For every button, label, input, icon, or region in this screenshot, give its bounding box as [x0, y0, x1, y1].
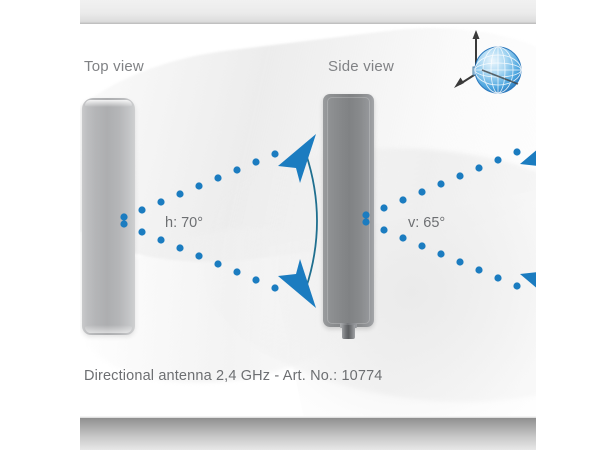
top-beam-dots-upper — [120, 150, 278, 220]
antenna-connector — [342, 325, 355, 339]
top-beam-arrow-upper — [278, 134, 316, 183]
top-edge-band — [80, 0, 536, 24]
side-view-title: Side view — [328, 58, 394, 75]
side-beam-arrow-upper — [520, 132, 536, 181]
product-caption: Directional antenna 2,4 GHz - Art. No.: … — [84, 368, 383, 384]
illustration-canvas: Top view Side view — [80, 0, 536, 450]
side-beam-dots-upper — [362, 148, 520, 218]
side-beam-arrow-lower — [520, 257, 536, 306]
bottom-shadow-band — [80, 418, 536, 450]
top-beam-dots-lower — [120, 220, 278, 291]
side-view-beam-diagram — [362, 106, 536, 321]
top-beam-arc — [306, 154, 317, 288]
top-view-beamwidth-label: h: 70° — [165, 215, 203, 231]
top-beam-arrow-lower — [278, 259, 316, 308]
globe-axes-icon — [452, 26, 526, 98]
top-view-beam-diagram — [120, 110, 340, 325]
side-view-beamwidth-label: v: 65° — [408, 215, 445, 231]
product-illustration: Top view Side view — [0, 0, 610, 450]
top-view-title: Top view — [84, 58, 144, 75]
